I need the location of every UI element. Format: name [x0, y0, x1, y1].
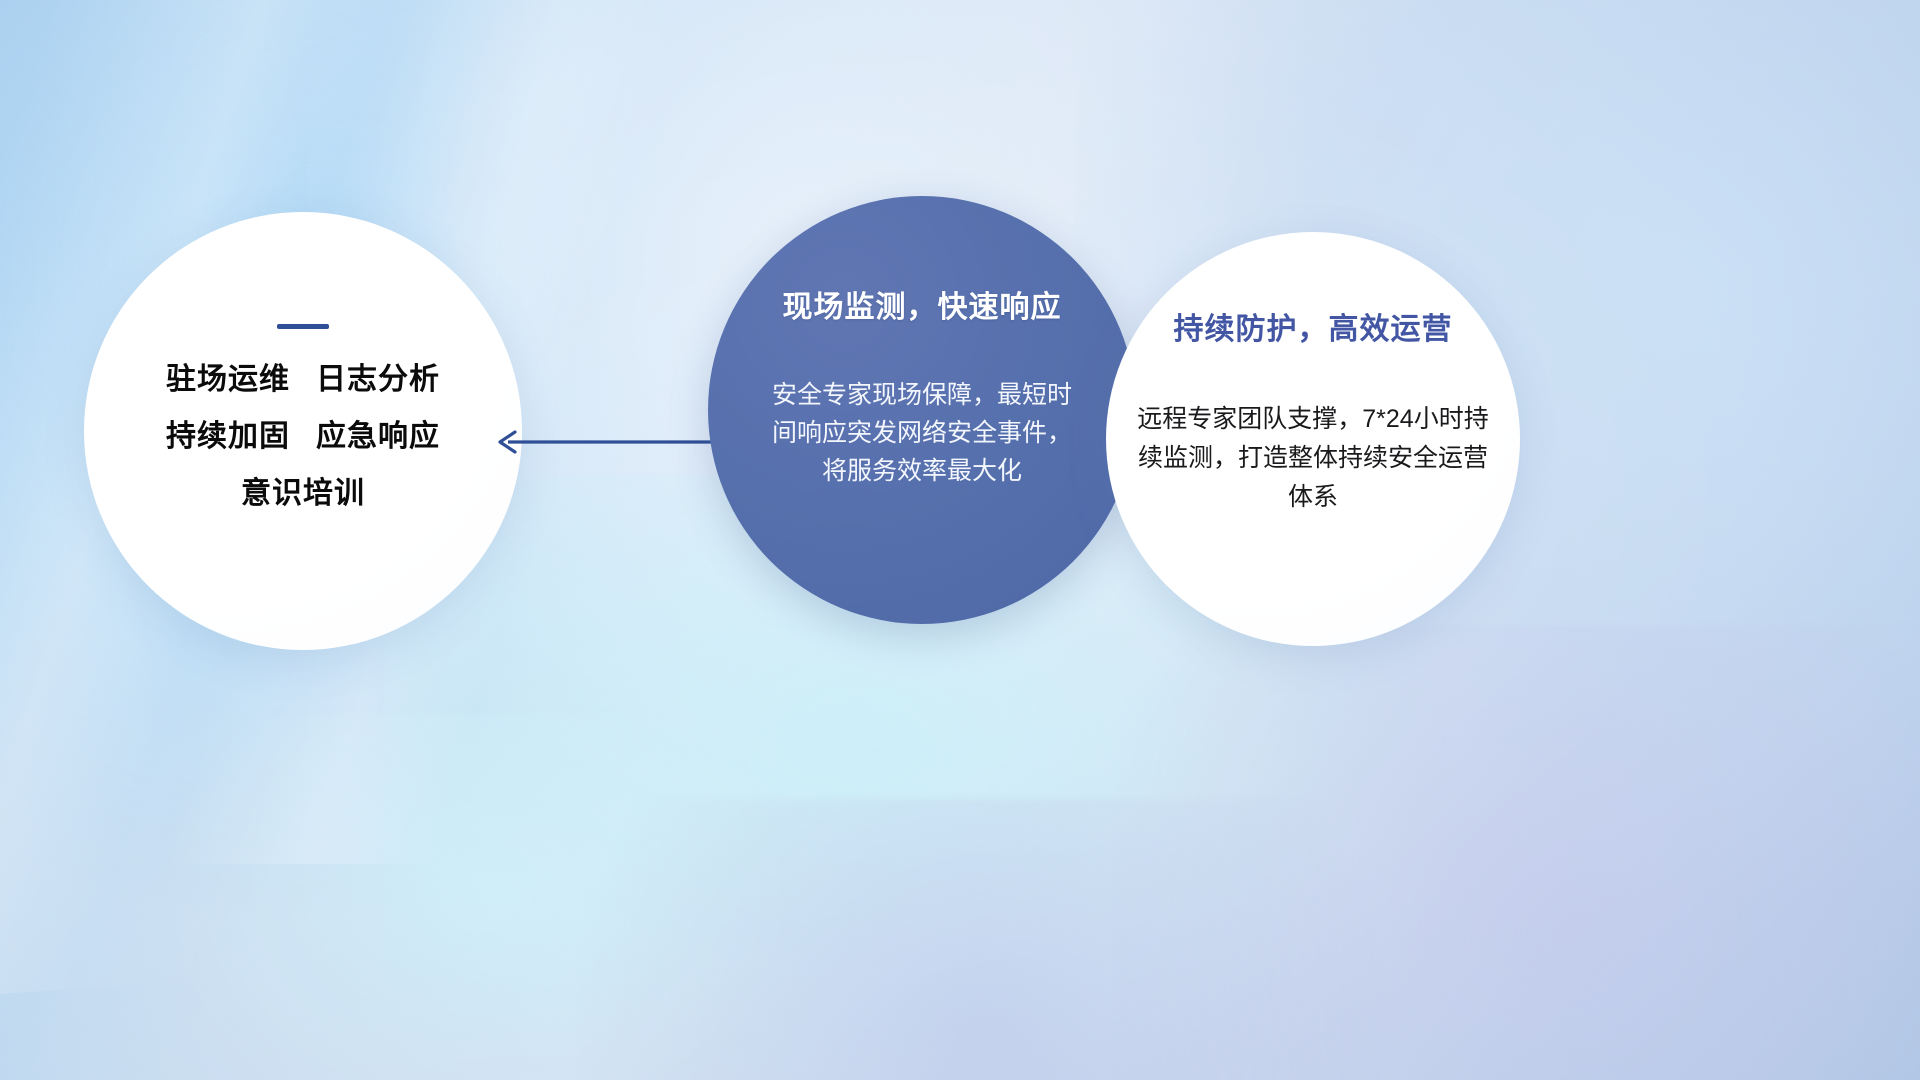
flow-arrow-left: [488, 420, 718, 464]
capability-keyword-5: 意识培训: [241, 477, 365, 510]
capability-keyword-row-3: 意识培训: [241, 477, 365, 510]
capability-keyword-1: 驻场运维: [166, 363, 290, 396]
service-circle-onsite-title: 现场监测，快速响应: [783, 282, 1062, 326]
capability-keyword-list: 驻场运维日志分析 持续加固应急响应 意识培训: [166, 363, 440, 510]
flow-arrow-icon: [488, 420, 718, 464]
capability-keyword-4: 应急响应: [316, 420, 440, 453]
capability-keyword-2: 日志分析: [316, 363, 440, 396]
service-circle-remote-body: 远程专家团队支撑，7*24小时持续监测，打造整体持续安全运营体系: [1132, 400, 1494, 517]
capability-keyword-row-2: 持续加固应急响应: [166, 420, 440, 453]
capability-keyword-row-1: 驻场运维日志分析: [166, 363, 440, 396]
capability-keyword-3: 持续加固: [166, 420, 290, 453]
service-circle-remote-title: 持续防护，高效运营: [1174, 304, 1453, 348]
service-circle-remote: 持续防护，高效运营 远程专家团队支撑，7*24小时持续监测，打造整体持续安全运营…: [1106, 232, 1520, 646]
service-circle-onsite: 现场监测，快速响应 安全专家现场保障，最短时间响应突发网络安全事件，将服务效率最…: [708, 196, 1136, 624]
capability-circle-left: 驻场运维日志分析 持续加固应急响应 意识培训: [84, 212, 522, 650]
divider-dash-icon: [277, 324, 329, 329]
service-circle-onsite-body: 安全专家现场保障，最短时间响应突发网络安全事件，将服务效率最大化: [762, 376, 1082, 490]
